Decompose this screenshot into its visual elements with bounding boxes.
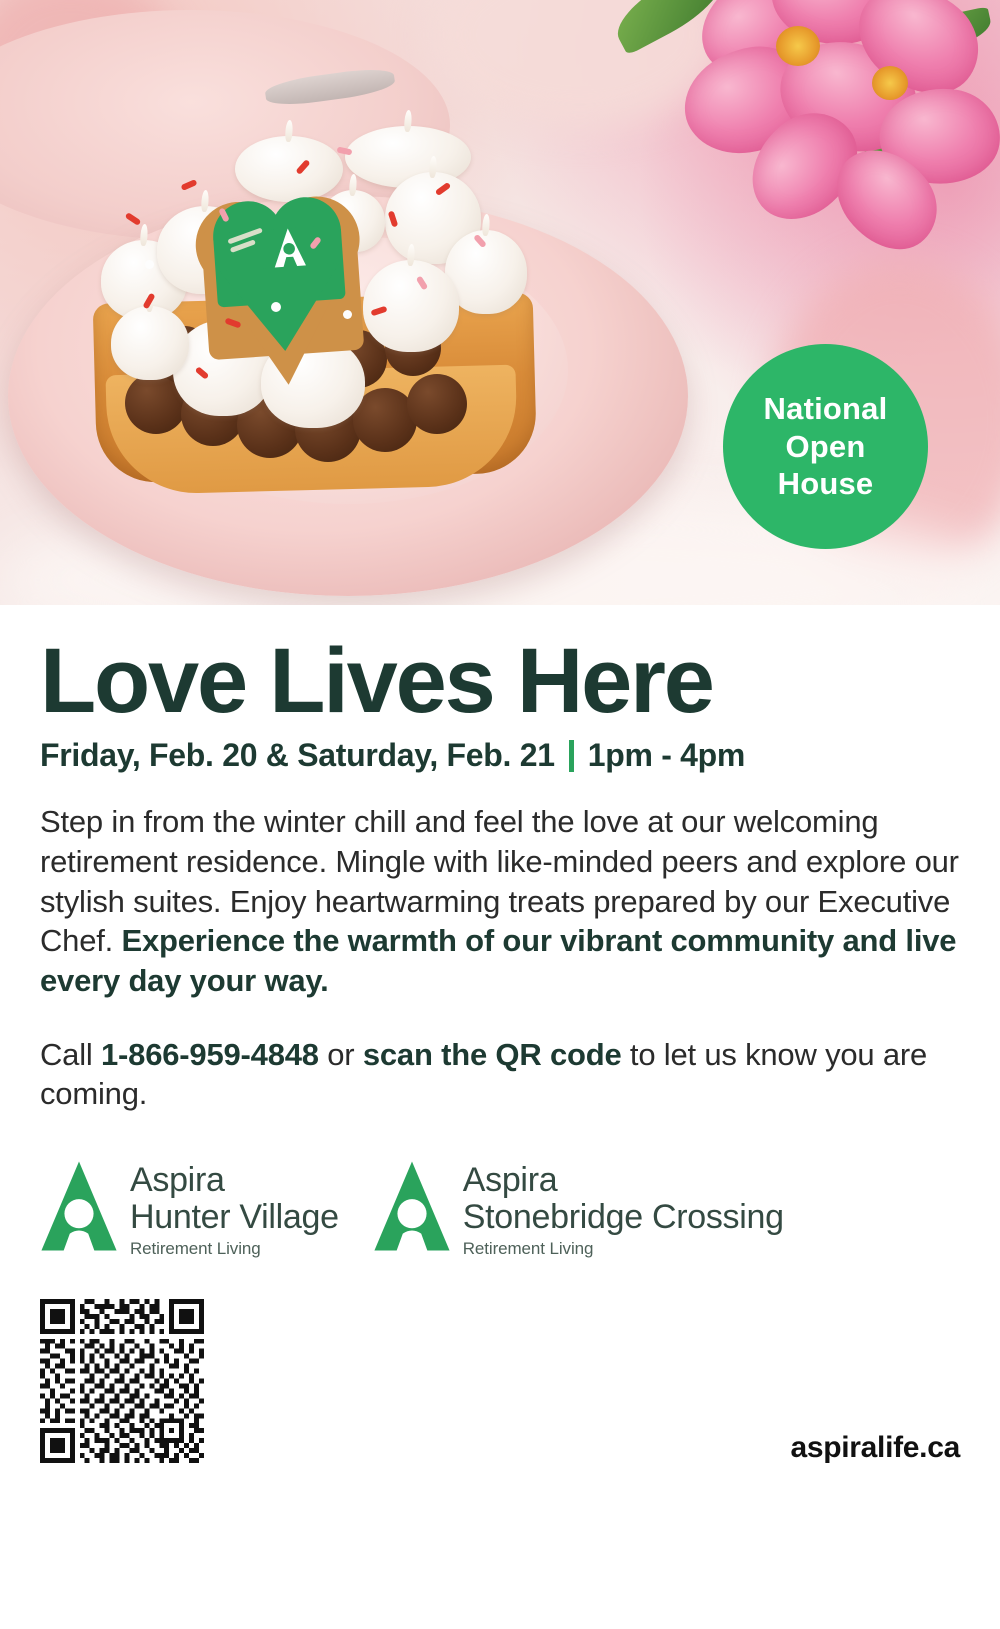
logo-brand: Aspira [463,1162,784,1199]
body-paragraph: Step in from the winter chill and feel t… [40,802,960,1000]
logo-hunter-village: Aspira Hunter Village Retirement Living [40,1160,339,1259]
dessert-cake [85,120,555,550]
event-time: 1pm - 4pm [588,737,745,774]
logo-row: Aspira Hunter Village Retirement Living … [40,1160,960,1259]
logo-stonebridge-crossing: Aspira Stonebridge Crossing Retirement L… [373,1160,784,1259]
hero-photo: National Open House [0,0,1000,605]
logo-tagline: Retirement Living [130,1240,339,1259]
aspira-heart-cookie [201,220,365,360]
qr-phrase: scan the QR code [363,1037,622,1072]
logo-community: Hunter Village [130,1199,339,1236]
national-open-house-badge: National Open House [723,344,928,549]
cta-pre-text: Call [40,1037,101,1072]
call-to-action: Call 1-866-959-4848 or scan the QR code … [40,1035,960,1114]
logo-tagline: Retirement Living [463,1240,784,1259]
body-bold-text: Experience the warmth of our vibrant com… [40,923,956,998]
page-title: Love Lives Here [40,637,960,725]
logo-text-block: Aspira Hunter Village Retirement Living [130,1160,339,1259]
aspira-a-logo [40,1160,118,1252]
poster: National Open House Love Lives Here Frid… [0,0,1000,1629]
content-area: Love Lives Here Friday, Feb. 20 & Saturd… [0,637,1000,1469]
qr-code[interactable] [40,1299,204,1463]
aspira-a-logo [271,225,308,269]
website-url[interactable]: aspiralife.ca [790,1431,960,1465]
aspira-a-logo [373,1160,451,1252]
event-dates: Friday, Feb. 20 & Saturday, Feb. 21 [40,737,555,774]
cta-mid-text: or [319,1037,363,1072]
badge-line-2: Open [785,428,865,466]
phone-number[interactable]: 1-866-959-4848 [101,1037,319,1072]
logo-text-block: Aspira Stonebridge Crossing Retirement L… [463,1160,784,1259]
dateline-divider [569,740,574,772]
badge-line-3: House [778,465,874,503]
footer-row: aspiralife.ca [40,1299,960,1469]
logo-community: Stonebridge Crossing [463,1199,784,1236]
badge-line-1: National [764,390,888,428]
event-dateline: Friday, Feb. 20 & Saturday, Feb. 21 1pm … [40,737,960,774]
flowers-cluster [580,0,1000,320]
logo-brand: Aspira [130,1162,339,1199]
